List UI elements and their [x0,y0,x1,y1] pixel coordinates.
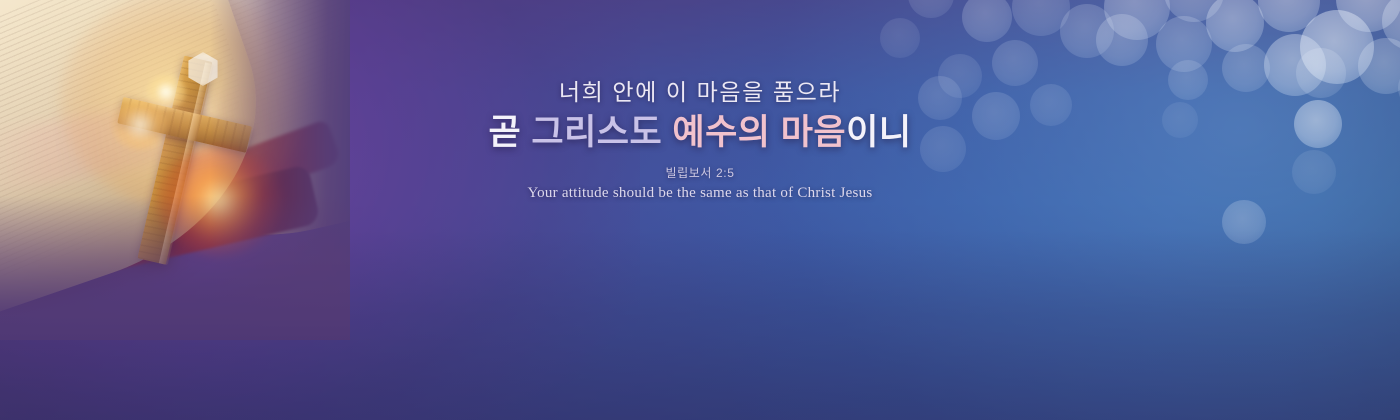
bokeh-circle-4 [1206,0,1264,52]
verse-line-1: 너희 안에 이 마음을 품으라 [0,78,1400,107]
bokeh-circle-15 [962,0,1012,42]
verse-line-2: 곧 그리스도 예수의 마음이니 [0,110,1400,156]
bokeh-circle-16 [908,0,954,18]
photo-fade-bottom [0,196,350,340]
verse-text-block: 너희 안에 이 마음을 품으라 곧 그리스도 예수의 마음이니 빌립보서 2:5… [0,78,1400,202]
verse-line-2-part-0: 곧 [488,113,531,152]
bokeh-circle-28 [880,18,920,58]
verse-line-2-part-4: 이니 [846,113,911,152]
scripture-banner: 너희 안에 이 마음을 품으라 곧 그리스도 예수의 마음이니 빌립보서 2:5… [0,0,1400,420]
verse-line-2-part-2: 예수의 [672,113,780,152]
verse-reference: 빌립보서 2:5 [0,164,1400,181]
verse-line-2-part-1: 그리스도 [531,113,672,152]
verse-line-2-part-3: 마음 [781,113,846,152]
verse-english: Your attitude should be the same as that… [0,185,1400,202]
